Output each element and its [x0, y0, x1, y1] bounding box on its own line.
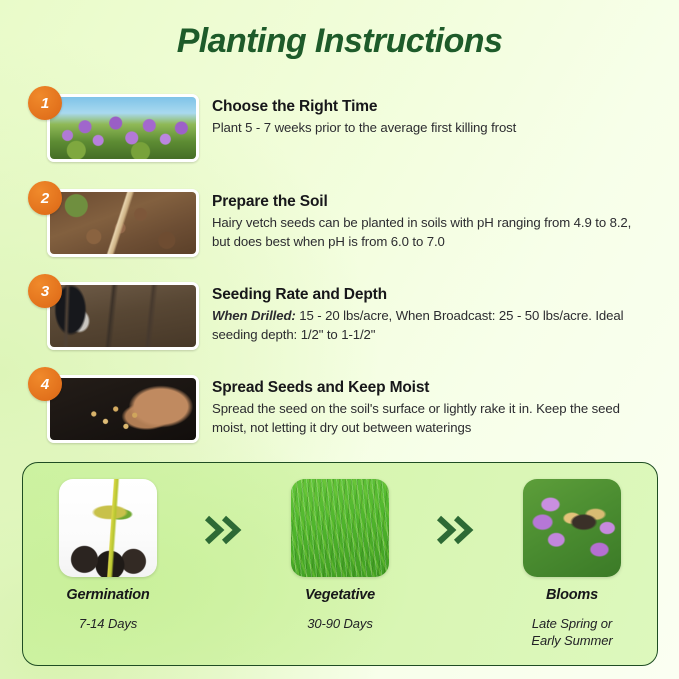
rake-in-tilled-soil-photo — [50, 192, 196, 254]
stage-vegetative: Vegetative 30-90 Days — [255, 463, 425, 632]
step-4-heading: Spread Seeds and Keep Moist — [212, 379, 644, 397]
stage-germination: Germination 7-14 Days — [23, 463, 193, 632]
hairy-vetch-purple-flowers-photo — [50, 97, 196, 159]
step-2-number-badge: 2 — [28, 181, 62, 215]
step-3-body-lead: When Drilled: — [212, 308, 296, 323]
double-chevron-right-icon — [204, 515, 244, 545]
stage-blooms-image — [523, 479, 621, 577]
step-3-text: Seeding Rate and Depth When Drilled: 15 … — [212, 286, 644, 344]
step-3-body: When Drilled: 15 - 20 lbs/acre, When Bro… — [212, 307, 644, 344]
stage-blooms-label: Blooms — [487, 587, 657, 603]
stage-germination-label: Germination — [23, 587, 193, 603]
seed-drill-furrows-photo — [50, 285, 196, 347]
growth-stages-panel: Germination 7-14 Days Vegetative 30-90 D… — [22, 462, 658, 666]
step-3-image — [47, 282, 199, 350]
stage-vegetative-label: Vegetative — [255, 587, 425, 603]
step-3-heading: Seeding Rate and Depth — [212, 286, 644, 304]
stage-separator-1 — [193, 515, 255, 545]
stage-germination-duration: 7-14 Days — [23, 615, 193, 632]
hand-broadcasting-seeds-photo — [50, 378, 196, 440]
step-1-image — [47, 94, 199, 162]
step-4-body: Spread the seed on the soil's surface or… — [212, 400, 644, 437]
step-3-thumbnail-wrap — [47, 282, 199, 350]
step-3-number-badge: 3 — [28, 274, 62, 308]
step-4-text: Spread Seeds and Keep Moist Spread the s… — [212, 379, 644, 437]
sprouting-seedling-photo — [59, 479, 157, 577]
step-4-number-badge: 4 — [28, 367, 62, 401]
double-chevron-right-icon — [436, 515, 476, 545]
stage-vegetative-duration: 30-90 Days — [255, 615, 425, 632]
stage-germination-image — [59, 479, 157, 577]
step-1-text: Choose the Right Time Plant 5 - 7 weeks … — [212, 98, 644, 138]
growth-stages-row: Germination 7-14 Days Vegetative 30-90 D… — [23, 463, 657, 665]
green-vetch-foliage-photo — [291, 479, 389, 577]
step-1-number-badge: 1 — [28, 86, 62, 120]
step-1-thumbnail-wrap — [47, 94, 199, 162]
stage-blooms-duration: Late Spring or Early Summer — [487, 615, 657, 649]
step-1-heading: Choose the Right Time — [212, 98, 644, 116]
step-4-thumbnail-wrap — [47, 375, 199, 443]
stage-vegetative-image — [291, 479, 389, 577]
step-1-body: Plant 5 - 7 weeks prior to the average f… — [212, 119, 644, 138]
step-2-heading: Prepare the Soil — [212, 193, 644, 211]
page-title: Planting Instructions — [0, 22, 679, 61]
step-1-body-text: Plant 5 - 7 weeks prior to the average f… — [212, 120, 516, 135]
stage-blooms: Blooms Late Spring or Early Summer — [487, 463, 657, 649]
bee-on-vetch-flower-photo — [523, 479, 621, 577]
step-2-body: Hairy vetch seeds can be planted in soil… — [212, 214, 644, 251]
step-4-image — [47, 375, 199, 443]
step-2-image — [47, 189, 199, 257]
step-2-thumbnail-wrap — [47, 189, 199, 257]
step-2-body-text: Hairy vetch seeds can be planted in soil… — [212, 215, 631, 249]
step-4-body-text: Spread the seed on the soil's surface or… — [212, 401, 620, 435]
infographic-page: Planting Instructions 1 Choose the Right… — [0, 0, 679, 679]
step-2-text: Prepare the Soil Hairy vetch seeds can b… — [212, 193, 644, 251]
stage-separator-2 — [425, 515, 487, 545]
